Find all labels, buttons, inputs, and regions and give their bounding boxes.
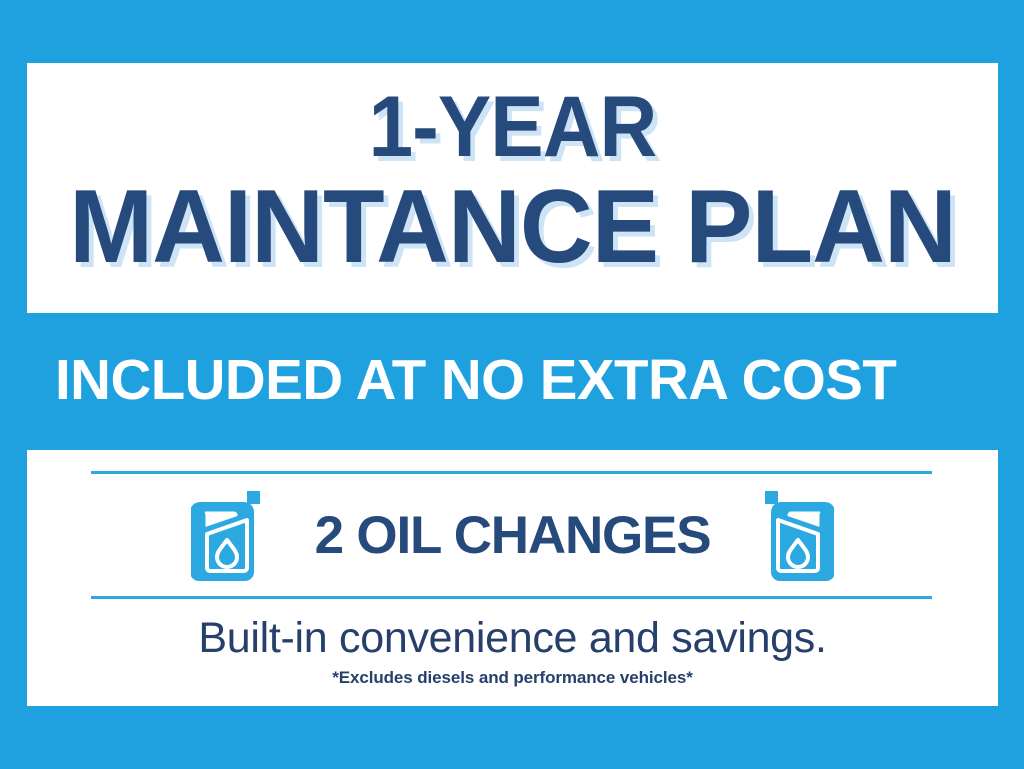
tagline: Built-in convenience and savings.	[27, 613, 998, 663]
feature-panel: 2 OIL CHANGES Built-in convenience and s…	[27, 450, 998, 706]
divider-bottom	[91, 596, 932, 599]
oil-jug-icon-left	[191, 490, 269, 582]
promo-poster: 1-YEAR MAINTANCE PLAN INCLUDED AT NO EXT…	[0, 0, 1024, 769]
fineprint-disclaimer: *Excludes diesels and performance vehicl…	[27, 668, 998, 688]
headline-line-1: 1-YEAR	[61, 81, 964, 173]
divider-top	[91, 471, 932, 474]
subheading: INCLUDED AT NO EXTRA COST	[55, 349, 976, 411]
feature-label: 2 OIL CHANGES	[315, 508, 711, 564]
headline-panel: 1-YEAR MAINTANCE PLAN	[27, 63, 998, 313]
headline-line-2: MAINTANCE PLAN	[42, 171, 984, 283]
feature-row: 2 OIL CHANGES	[27, 480, 998, 592]
oil-jug-icon-right	[756, 490, 834, 582]
